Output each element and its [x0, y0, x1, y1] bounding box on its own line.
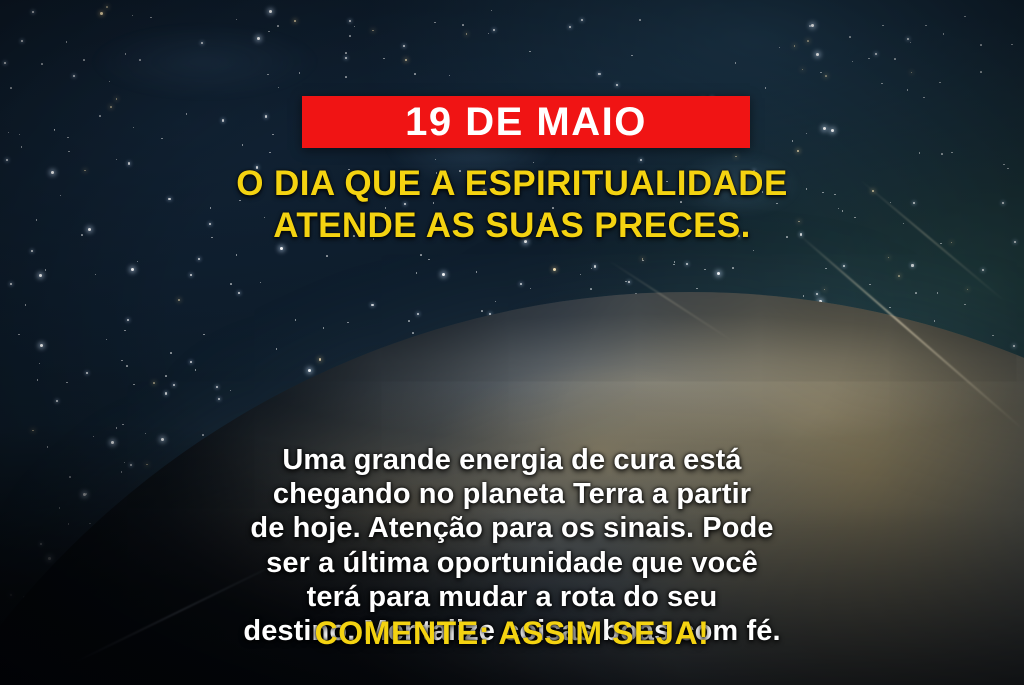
headline-line-2: ATENDE AS SUAS PRECES.	[0, 205, 1024, 247]
body-line-3: de hoje. Atenção para os sinais. Pode	[0, 511, 1024, 545]
date-banner-label: 19 DE MAIO	[405, 102, 647, 142]
headline-line-1: O DIA QUE A ESPIRITUALIDADE	[0, 163, 1024, 205]
date-banner: 19 DE MAIO	[302, 96, 750, 148]
poster-content: 19 DE MAIO O DIA QUE A ESPIRITUALIDADE A…	[0, 0, 1024, 685]
call-to-action-label: COMENTE: ASSIM SEJA!	[0, 616, 1024, 651]
poster-canvas: 19 DE MAIO O DIA QUE A ESPIRITUALIDADE A…	[0, 0, 1024, 685]
body-line-4: ser a última oportunidade que você	[0, 546, 1024, 580]
body-line-5: terá para mudar a rota do seu	[0, 580, 1024, 614]
body-line-2: chegando no planeta Terra a partir	[0, 477, 1024, 511]
headline: O DIA QUE A ESPIRITUALIDADE ATENDE AS SU…	[0, 163, 1024, 247]
body-line-1: Uma grande energia de cura está	[0, 443, 1024, 477]
